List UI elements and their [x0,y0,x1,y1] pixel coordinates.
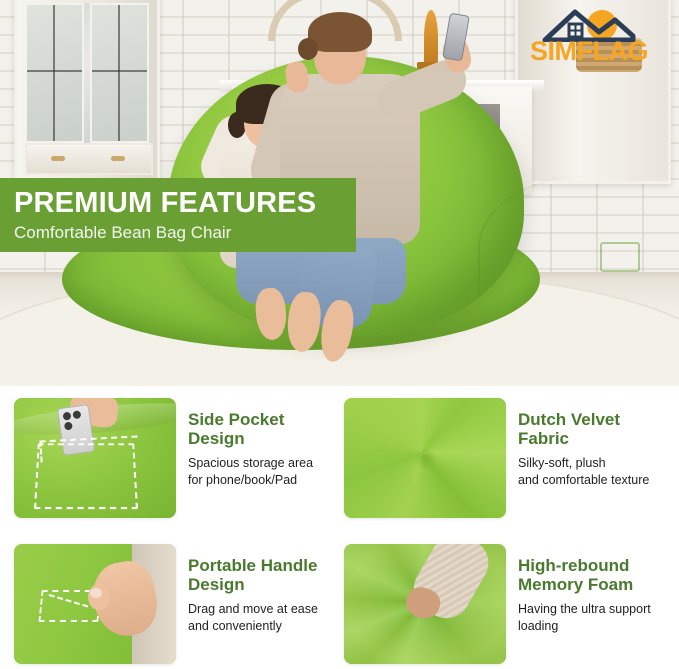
feature-text: High-rebound Memory Foam Having the ultr… [506,544,651,634]
feature-image-handle [14,544,176,664]
bag-seam [478,176,660,296]
camera-lens-icon [62,412,71,421]
left-cabinet [14,0,160,184]
feature-title: Dutch Velvet Fabric [518,410,649,448]
feature-text: Dutch Velvet Fabric Silky-soft, plush an… [506,398,649,488]
feature-image-memory-foam [344,544,506,664]
drawer-knob-icon [51,156,65,161]
feature-side-pocket: Side Pocket Design Spacious storage area… [14,398,332,518]
cabinet-glass-doors [25,3,149,143]
feature-description: Drag and move at ease and conveniently [188,601,318,634]
woman-hair-bun [298,38,318,60]
brand-logo: SIMFLAG [511,8,667,70]
feature-text: Portable Handle Design Drag and move at … [176,544,318,634]
cabinet-drawer [25,143,153,175]
logo-wordmark: SIMFLAG [511,36,667,67]
feature-memory-foam: High-rebound Memory Foam Having the ultr… [344,544,670,664]
peace-sign-hand [284,61,310,94]
feature-title: Portable Handle Design [188,556,318,594]
feature-dutch-velvet: Dutch Velvet Fabric Silky-soft, plush an… [344,398,670,518]
drawer-knob-icon [111,156,125,161]
banner-title: PREMIUM FEATURES [14,189,356,218]
premium-features-banner: PREMIUM FEATURES Comfortable Bean Bag Ch… [0,178,356,252]
hero-image: SIMFLAG PREMIUM FEATURES Comfortable Bea… [0,0,679,386]
feature-title: High-rebound Memory Foam [518,556,651,594]
feature-title: Side Pocket Design [188,410,313,448]
feature-description: Having the ultra support loading [518,601,651,634]
feature-text: Side Pocket Design Spacious storage area… [176,398,313,488]
features-grid: Side Pocket Design Spacious storage area… [0,392,679,669]
pocket-dashed-outline [34,443,138,509]
fingernail [90,588,102,598]
velvet-swirl-texture [344,398,506,518]
glass-pane [25,3,84,143]
banner-subtitle: Comfortable Bean Bag Chair [14,224,356,241]
feature-description: Spacious storage area for phone/book/Pad [188,455,313,488]
glass-pane [90,3,149,143]
feature-portable-handle: Portable Handle Design Drag and move at … [14,544,332,664]
feature-image-side-pocket [14,398,176,518]
feature-description: Silky-soft, plush and comfortable textur… [518,455,649,488]
bag-side-pocket [600,242,640,272]
feature-image-velvet [344,398,506,518]
